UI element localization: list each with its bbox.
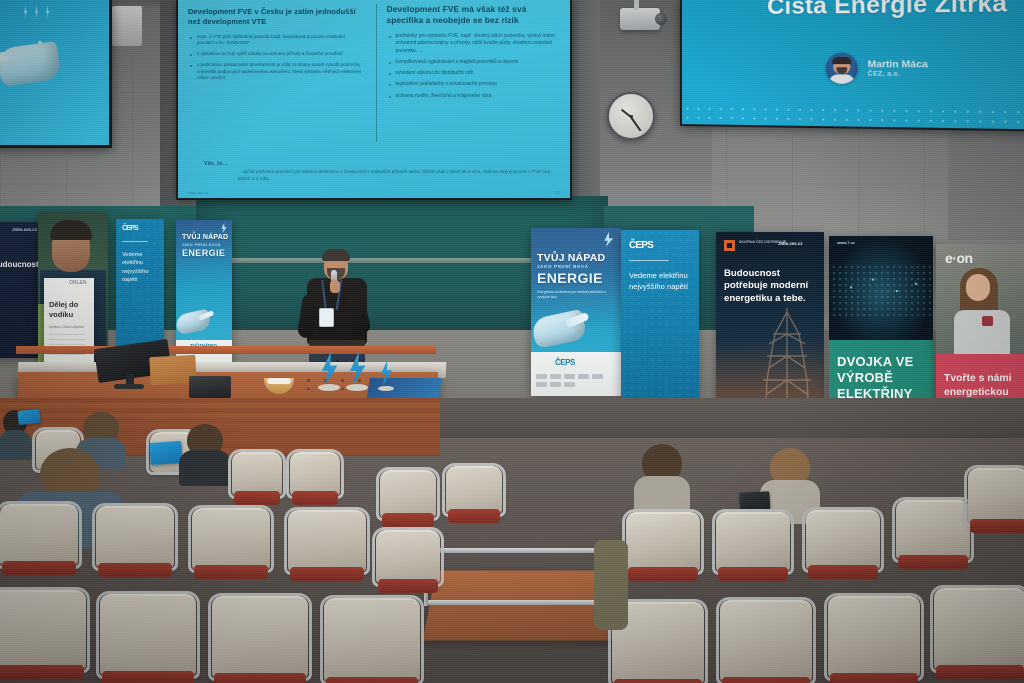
seat-frame <box>930 585 1024 673</box>
ceiling-speaker <box>112 6 142 46</box>
seat-cushion <box>214 673 306 683</box>
banner-ceps-left-headline: Vedeme elektřinu nejvyššího napětí <box>122 251 164 285</box>
banner-eon-photo: e·on <box>936 244 1024 354</box>
banner-person-hair <box>50 220 92 240</box>
desk-back-rail <box>16 346 436 354</box>
slide-bullet: podmínky pro výstavbu FVE, např. vhodný … <box>396 33 561 55</box>
slide-note-body: …vyřídit potřebná povolení pro větrnou e… <box>238 168 558 182</box>
banner-napad-left-line3: ENERGIE <box>182 248 225 258</box>
banner-napad-main-footer: ČEPS <box>531 352 621 396</box>
presenter-hand <box>330 280 340 293</box>
seat <box>626 512 700 572</box>
presenter-belt <box>309 340 365 345</box>
banner-vodik: ORLEN Dělej do vodíku Kariéra v Orlen Un… <box>44 278 94 370</box>
banner-ceps-main: ČEPS Vedeme elektřinu nejvyššího napětí <box>621 230 699 410</box>
banner-napad-main-line2: JAKO PRVNÍ NOVÁ <box>537 264 589 269</box>
sponsor-logo-strip <box>536 374 616 387</box>
lightning-bolt-icon <box>23 5 28 19</box>
audience-laptop <box>149 441 182 465</box>
banner-ceps-left-rule <box>122 241 148 242</box>
banner-napad-left-line1: TVŮJ NÁPAD <box>182 234 228 241</box>
slide-bullet: vyvedení výkonu do distribuční sítě <box>396 70 561 77</box>
banner-vodik-brand: ORLEN <box>69 280 87 286</box>
title-slide-heading: Čistá Energie Zítřka <box>767 0 1007 20</box>
desk-laptop-dark <box>189 376 231 398</box>
presenter-hair <box>322 249 350 261</box>
seat-cushion <box>718 567 788 581</box>
conference-hall-photo: ✦ ✦ Development FVE v Česku je zatím jed… <box>0 0 1024 683</box>
banner-seven-image: www.7.cz <box>829 236 933 340</box>
seat <box>716 512 790 572</box>
seat-cushion <box>808 565 878 579</box>
slide-left-column: Development FVE v Česku je zatím jednodu… <box>188 4 368 142</box>
banner-ceps-main-logo: ČEPS <box>629 240 653 251</box>
banner-napad-main-body: Energetická konference pro studenty stře… <box>537 290 611 300</box>
slide-note: Víte, že… …vyřídit potřebná povolení pro… <box>204 161 558 182</box>
power-grid-map-graphic <box>831 264 931 316</box>
banner-cez-left-headline: Budoucnost potřebuje moderní energetiku <box>0 260 40 270</box>
slide-bullet: zejm. u VTE platí zpřísněná pravidla kra… <box>197 34 362 48</box>
seat <box>0 504 78 566</box>
seat <box>828 596 920 678</box>
slide-right-bullets: podmínky pro výstavbu FVE, např. vhodný … <box>387 33 561 100</box>
sponsor-logo <box>536 382 547 387</box>
monitor-base <box>114 384 144 389</box>
banner-ceps-main-rule <box>629 260 669 261</box>
slide-note-label: Víte, že… <box>204 161 558 167</box>
slide-content: Development FVE v Česku je zatím jednodu… <box>178 0 570 198</box>
banner-napad-left: TVŮJ NÁPAD JAKO PRVNÍ NOVÁ ENERGIE TVŮJ … <box>176 220 232 366</box>
lightning-logo-icon <box>602 232 615 247</box>
slide-left-bullets: zejm. u VTE platí zpřísněná pravidla kra… <box>188 34 362 83</box>
access-ramp <box>423 571 621 641</box>
seat-frame <box>824 593 924 681</box>
seat-cushion <box>614 679 702 683</box>
banner-cez-left: Jobs.cez.cz Budoucnost potřebuje moderní… <box>0 222 40 358</box>
projection-screen-left: ✦ ✦ <box>0 0 112 148</box>
seat <box>232 452 282 496</box>
seat-cushion <box>722 677 810 683</box>
seat-frame <box>284 507 370 575</box>
sponsor-logo <box>564 374 575 379</box>
trophy-base <box>318 384 340 391</box>
seat-cushion <box>98 563 172 577</box>
slide-left-heading: Development FVE v Česku je zatím jednodu… <box>188 7 362 27</box>
banner-vodik-headline: Dělej do vodíku <box>49 300 94 320</box>
avatar-body <box>829 74 855 83</box>
seat <box>288 510 366 572</box>
seat <box>96 506 174 568</box>
sponsor-logo <box>550 382 561 387</box>
banner-cezd-jobs-url: Jobs.cez.cz <box>778 241 802 246</box>
seat-cushion <box>378 579 438 593</box>
banner-napad-left-line2: JAKO PRVNÍ NOVÁ <box>182 243 221 247</box>
seat-cushion <box>326 677 418 683</box>
banner-cez-left-logo: Jobs.cez.cz <box>12 227 37 232</box>
seat-cushion <box>0 665 84 679</box>
person-body <box>594 540 628 630</box>
seat-frame <box>188 505 274 573</box>
seat-frame <box>208 593 312 681</box>
projector-mount <box>634 0 639 10</box>
title-slide-speaker: Martin Máca ČEZ, a.s. <box>826 53 928 85</box>
banner-seven-url: www.7.cz <box>837 240 855 245</box>
lightning-logo-icon <box>220 223 228 233</box>
slide-bullet: s výstavbou se bojí vyšší nároky na ochr… <box>197 51 362 58</box>
projector-lens-icon <box>655 13 667 25</box>
seat-cushion <box>194 565 268 579</box>
seat-frame <box>964 465 1024 527</box>
coffee-cup-icon <box>982 316 993 326</box>
seat-frame <box>372 527 444 587</box>
seat-frame <box>802 507 884 573</box>
trophy-base <box>378 386 394 391</box>
slide-bullet: s podmínkou prosazování development je v… <box>197 62 362 82</box>
banner-ceps-left-logo: ČEPS <box>122 225 138 232</box>
banner-ceps-main-headline: Vedeme elektřinu nejvyššího napětí <box>629 270 699 293</box>
clock-minute-hand <box>630 116 641 131</box>
sponsor-logo <box>550 374 561 379</box>
presenter-badge <box>319 308 334 327</box>
banner-napad-main-line3: ENERGIE <box>537 270 603 286</box>
seat <box>100 594 196 676</box>
lightning-bolt-icon <box>34 5 39 19</box>
slide-footer-url: www.cez.cz <box>188 191 209 195</box>
banner-eon-person-head <box>966 274 990 301</box>
trophy-base <box>346 384 368 391</box>
seat-frame <box>0 501 82 569</box>
seat <box>376 530 440 584</box>
lightning-trophy <box>378 360 394 386</box>
lightning-bolt-row-icon <box>23 5 50 19</box>
cez-logo-mark <box>724 240 735 251</box>
avatar-hair <box>832 57 851 64</box>
slide-right-heading: Development FVE má však též svá specifik… <box>387 4 561 26</box>
banner-cezd-headline: Budoucnost potřebuje moderní energetiku … <box>724 268 824 305</box>
sponsor-logo <box>592 374 603 379</box>
seat <box>0 590 86 670</box>
seat-cushion <box>382 513 434 527</box>
banner-napad-main: TVŮJ NÁPAD JAKO PRVNÍ NOVÁ ENERGIE Energ… <box>531 228 621 396</box>
sponsor-logo <box>578 374 589 379</box>
lightning-bolt-icon <box>346 352 368 386</box>
seat-frame <box>92 503 178 571</box>
seat-frame <box>0 587 90 673</box>
seat-frame <box>622 509 704 575</box>
slide-page-number: 12 <box>556 191 560 195</box>
seat-cushion <box>234 491 280 505</box>
slide-bullet: ochrana rostlin, živočichů a krajinného … <box>396 93 561 100</box>
audience-person <box>768 448 812 508</box>
banner-napad-main-line1: TVŮJ NÁPAD <box>537 252 605 264</box>
speaker-text-block: Martin Máca ČEZ, a.s. <box>868 58 928 78</box>
seat-frame <box>712 509 794 575</box>
seat <box>380 470 436 518</box>
seat-cushion <box>292 491 338 505</box>
seat-frame <box>892 497 974 563</box>
seat <box>968 468 1024 524</box>
banner-vodik-sub: Kariéra v Orlen Unipetrol <box>49 325 84 329</box>
sponsor-logo <box>564 382 575 387</box>
seat <box>806 510 880 570</box>
slide-right-column: Development FVE má však též svá specifik… <box>376 4 561 142</box>
sponsor-logo <box>536 374 547 379</box>
seat-frame <box>716 597 816 683</box>
lightning-bolt-icon <box>378 360 394 386</box>
pointing-hand-icon <box>0 41 61 87</box>
banner-seven-headline: DVOJKA VE VÝROBĚ ELEKTŘINY <box>837 354 933 402</box>
seat-cushion <box>102 671 194 683</box>
slide-bullet: komplikovaná vyjednávání s majiteli poze… <box>396 59 561 66</box>
wall-clock <box>607 92 655 140</box>
ramp-handrail-top <box>424 548 620 553</box>
banner-napad-main-footer-logo: ČEPS <box>555 358 575 367</box>
speaker-avatar <box>826 53 858 84</box>
seat <box>896 500 970 560</box>
seat-frame <box>320 595 424 683</box>
seat-cushion <box>936 665 1024 679</box>
title-slide-dot-pattern <box>682 104 1024 125</box>
audience-laptop <box>17 409 40 425</box>
slide-bullet: legislativní požadavky v povolovacím pro… <box>396 81 561 88</box>
seat-frame <box>96 591 200 679</box>
ceiling-projector-icon <box>620 8 660 30</box>
person-body <box>179 450 231 486</box>
seat <box>290 452 340 496</box>
speaker-org: ČEZ, a.s. <box>868 71 928 79</box>
seat-cushion <box>830 673 918 683</box>
seat <box>212 596 308 678</box>
seat-cushion <box>2 561 76 575</box>
seat-cushion <box>290 567 364 581</box>
seat-cushion <box>628 567 698 581</box>
seat <box>324 598 420 682</box>
projection-screen-right: Čistá Energie Zítřka Martin Máca ČEZ, a.… <box>680 0 1024 132</box>
lightning-trophy <box>346 352 368 386</box>
audience-person <box>640 444 684 504</box>
projection-screen-main: Development FVE v Česku je zatím jednodu… <box>176 0 572 200</box>
lightning-bolt-icon <box>45 5 50 19</box>
seat-cushion <box>898 555 968 569</box>
seat <box>720 600 812 682</box>
banner-ceps-main-pattern <box>621 230 699 410</box>
ramp-handrail-bottom <box>424 600 620 605</box>
seat <box>934 588 1024 670</box>
audience-person <box>596 540 626 620</box>
seat-cushion <box>448 509 500 523</box>
seat <box>446 466 502 514</box>
speaker-name: Martin Máca <box>868 58 928 71</box>
lightning-trophy <box>318 352 340 386</box>
lightning-bolt-icon <box>318 352 340 386</box>
audience-person <box>182 424 228 476</box>
banner-eon-logo: e·on <box>945 250 973 266</box>
seat <box>192 508 270 570</box>
seat-cushion <box>970 519 1024 533</box>
clock-center-pin <box>630 115 633 118</box>
